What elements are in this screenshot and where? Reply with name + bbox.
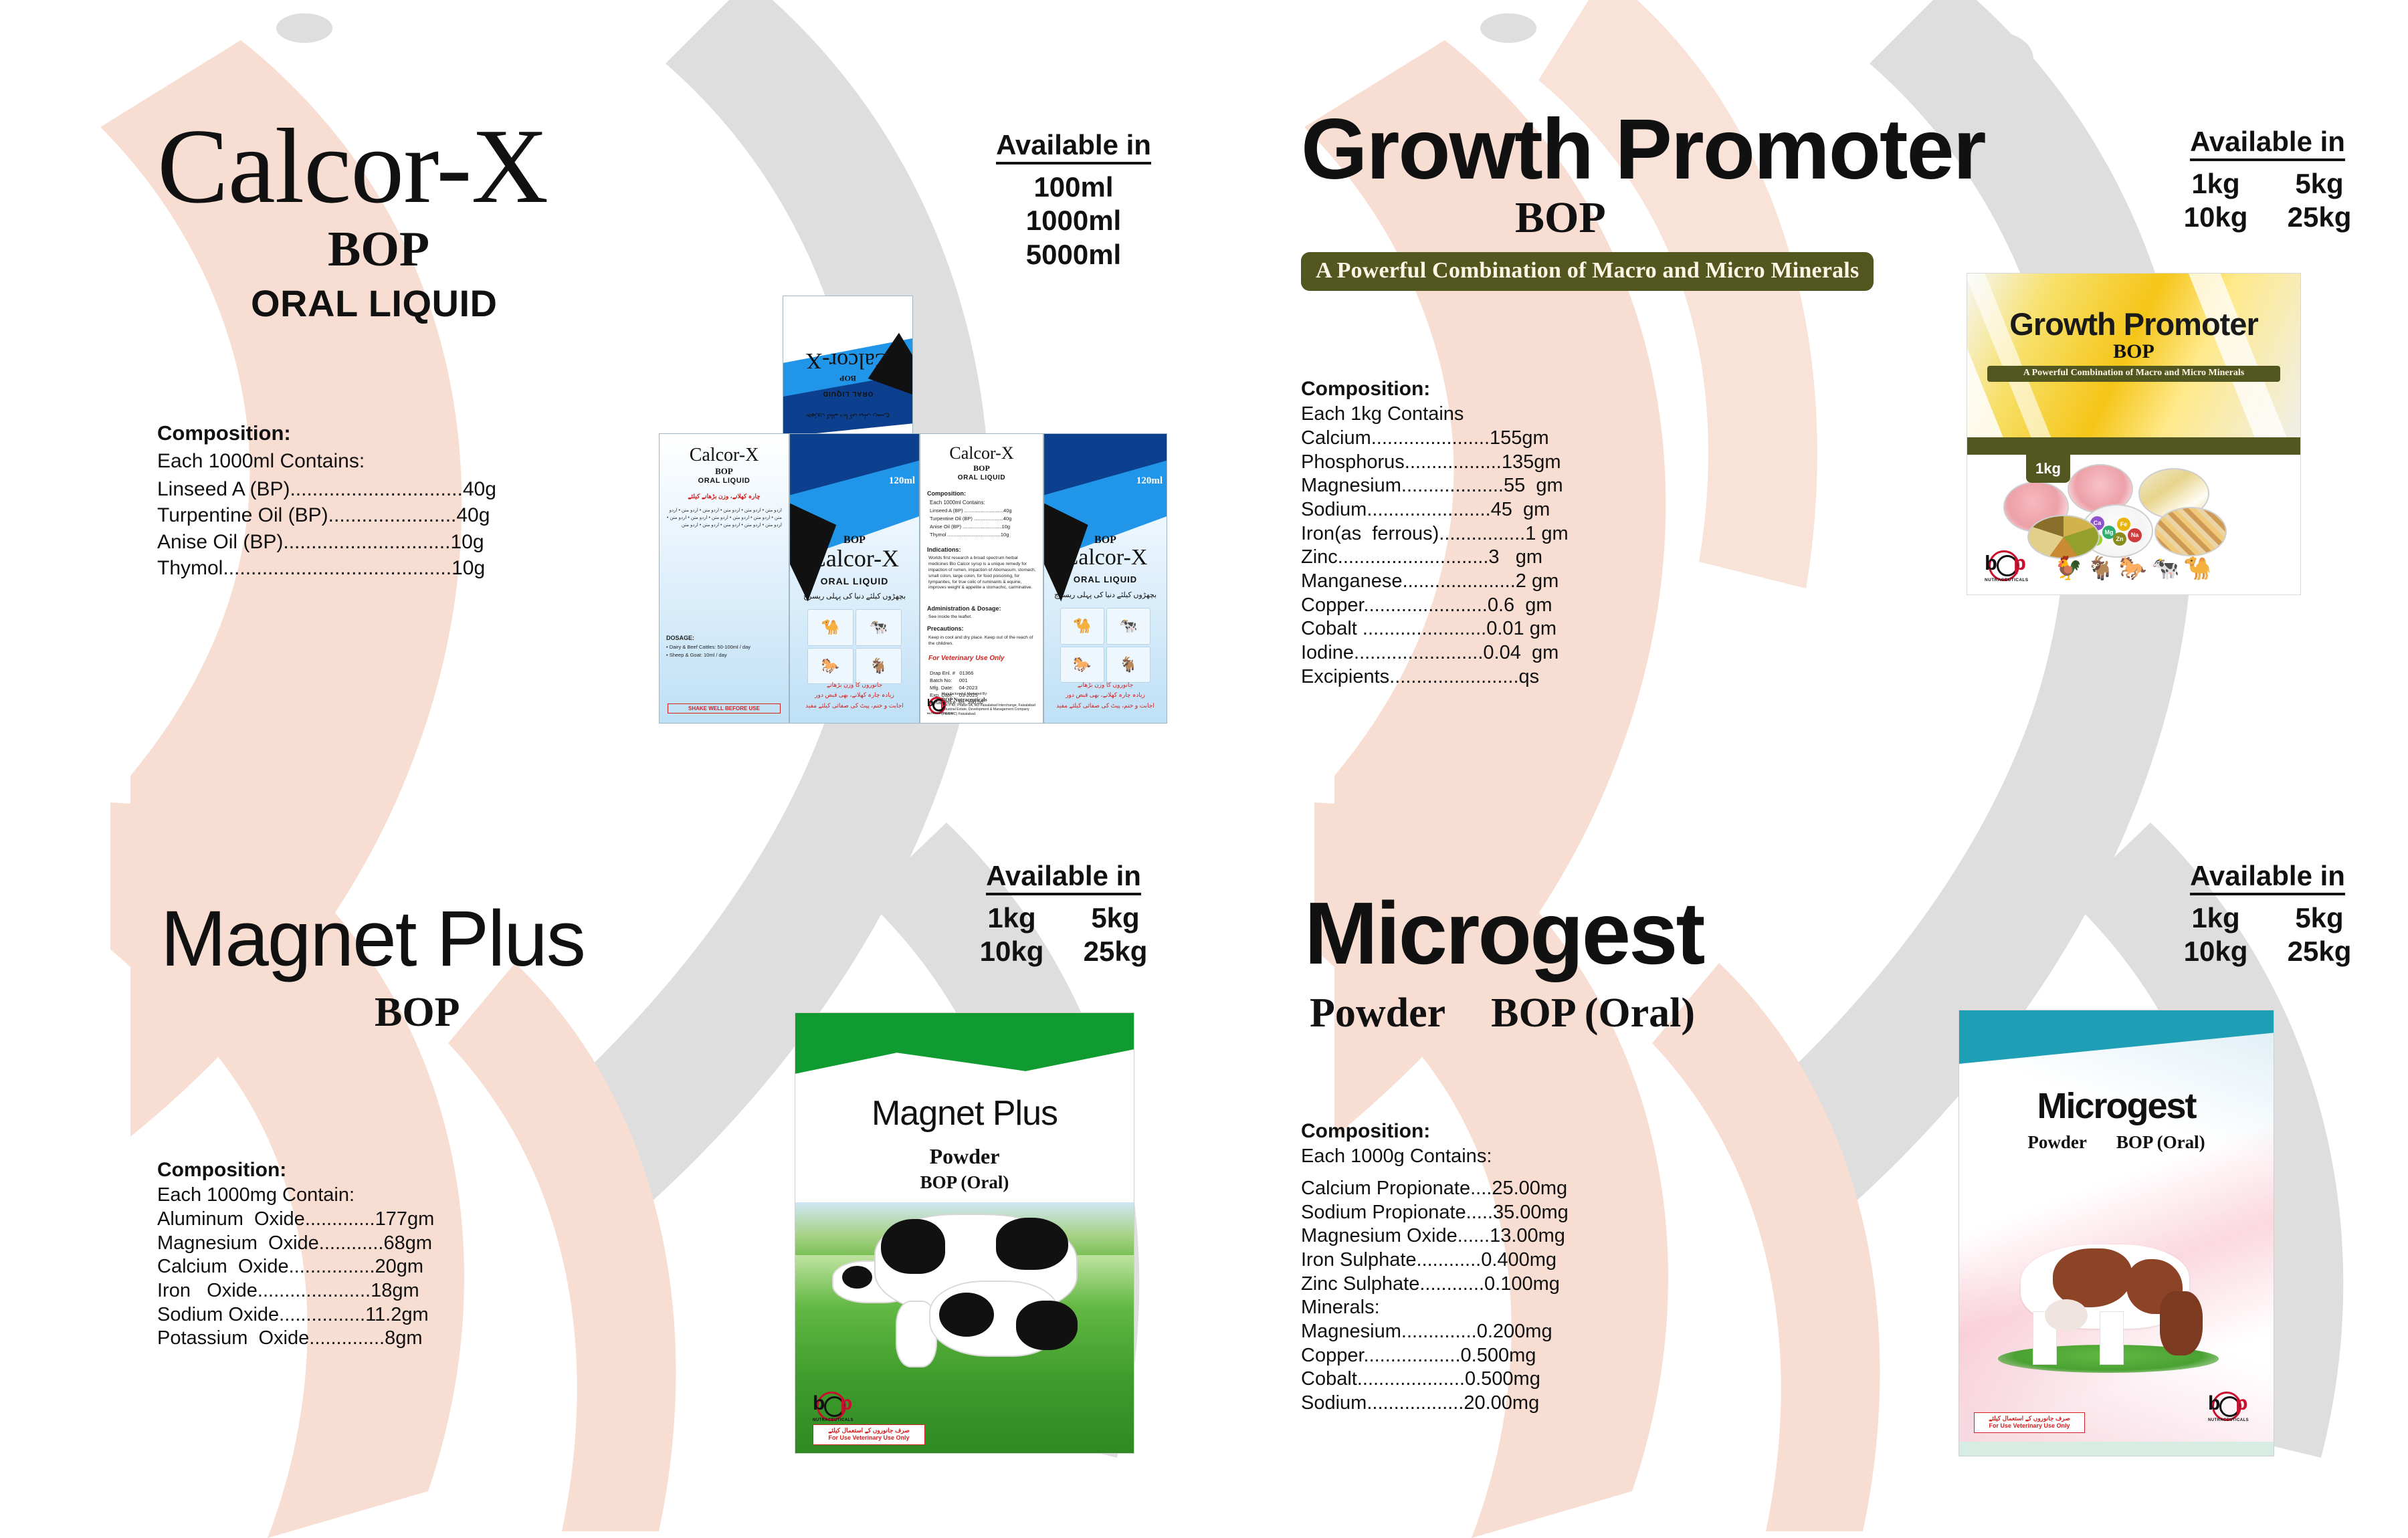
calcor-x-form-label: ORAL LIQUID: [251, 285, 548, 322]
composition-basis: Each 1000ml Contains:: [157, 448, 585, 475]
pack-divider-bar: [1967, 437, 2300, 455]
carton-admin-text: See inside the leaflet.: [928, 615, 972, 619]
growth-promoter-bop-label: BOP: [1515, 196, 1985, 240]
composition-row: Calcium Propionate....25.00mg: [1301, 1177, 1769, 1201]
size-list-magnet-plus: 1kg5kg 10kg25kg: [953, 901, 1174, 969]
size-option[interactable]: 25kg: [2284, 201, 2354, 234]
carton-manufacturer: b p NUTRACEUTICALS Manufactured & Market…: [927, 692, 1043, 716]
microgest-form-label: Powder: [1310, 992, 1445, 1034]
bop-logo-icon: b p NUTRACEUTICALS: [813, 1390, 860, 1421]
udder-icon: [2045, 1299, 2088, 1331]
composition-row: Sodium..................20.00mg: [1301, 1392, 1769, 1416]
composition-list: Calcium......................155gm Phosp…: [1301, 427, 1769, 689]
composition-row: Aluminum Oxide.............177gm: [157, 1208, 625, 1232]
size-option[interactable]: 5000ml: [973, 238, 1174, 271]
pack-weight-tag: 1kg: [2026, 455, 2070, 483]
microgest-bop-label: BOP (Oral): [1491, 992, 1695, 1034]
available-in-magnet-plus: Available in 1kg5kg 10kg25kg: [953, 861, 1174, 969]
product-panel-microgest: Microgest Powder BOP (Oral) Available in…: [1204, 769, 2408, 1538]
cow-icon: [939, 1293, 994, 1337]
pack-footer-band: [1959, 1442, 2274, 1456]
microgest-title-block: Microgest Powder BOP (Oral): [1304, 893, 1703, 1034]
carton-urdu-body: اردو متن • اردو متن • اردو متن • اردو مت…: [666, 508, 782, 530]
carton-admin-heading: Administration & Dosage:: [927, 605, 1001, 612]
composition-heading: Composition:: [157, 1159, 625, 1182]
size-option[interactable]: 1kg: [977, 901, 1047, 935]
composition-microgest: Composition: Each 1000g Contains: Calciu…: [1301, 1120, 1769, 1416]
available-in-growth-promoter: Available in 1kg5kg 10kg25kg: [2157, 127, 2378, 235]
calcor-x-bop-label: BOP: [328, 225, 548, 274]
product-panel-calcor-x: Calcor-X BOP ORAL LIQUID Available in 10…: [0, 0, 1204, 769]
composition-row: Iron(as ferrous)................1 gm: [1301, 522, 1769, 546]
composition-row: Cobalt....................0.500mg: [1301, 1367, 1769, 1392]
camel-icon: 🐪: [2183, 557, 2211, 580]
composition-basis: Each 1kg Contains: [1301, 403, 1769, 425]
carton-shake-notice: SHAKE WELL BEFORE USE: [668, 703, 781, 713]
carton-precautions-text: Keep in cool and dry place. Keep out of …: [928, 635, 1036, 647]
carton-form: ORAL LIQUID: [660, 477, 789, 485]
page-title-calcor-x: Calcor-X: [157, 117, 548, 215]
composition-magnet-plus: Composition: Each 1000mg Contain: Alumin…: [157, 1159, 625, 1351]
composition-row: Excipients........................qs: [1301, 665, 1769, 689]
pack-bop-label: BOP (Oral): [2116, 1133, 2205, 1151]
composition-basis: Each 1000g Contains:: [1301, 1145, 1769, 1168]
carton-dosage-line: • Dairy & Beef Cattles: 50-100ml / day: [666, 644, 750, 650]
carton-form: ORAL LIQUID: [790, 576, 919, 586]
bop-logo-icon: b p NUTRACEUTICALS: [2208, 1390, 2255, 1421]
carton-form-top: ORAL LIQUID: [783, 390, 912, 397]
product-photo-growth-promoter: Growth Promoter BOP A Powerful Combinati…: [1967, 273, 2301, 595]
carton-dosage-line: • Sheep & Goat: 10ml / day: [666, 652, 727, 658]
tagline-banner: A Powerful Combination of Macro and Micr…: [1301, 252, 1874, 291]
composition-row: Sodium.......................45 gm: [1301, 498, 1769, 522]
magnet-plus-bop-label: BOP: [375, 992, 585, 1033]
size-option[interactable]: 5kg: [1080, 901, 1150, 935]
carton-panel-info: Calcor-X BOP ORAL LIQUID Composition: Ea…: [920, 433, 1043, 724]
carton-composition-row: Thymol .................................…: [930, 532, 1009, 538]
carton-indications-heading: Indications:: [927, 546, 961, 553]
pack-title: Magnet Plus: [795, 1093, 1134, 1133]
carton-urdu-footer: جانوروں کا وزن بڑھانےزیادہ چارہ کھلانے، …: [1044, 680, 1167, 711]
size-option[interactable]: 1kg: [2181, 901, 2251, 935]
composition-row: Minerals:: [1301, 1296, 1769, 1320]
page-title-magnet-plus: Magnet Plus: [161, 903, 585, 976]
growth-promoter-title-block: Growth Promoter BOP A Powerful Combinati…: [1301, 110, 1985, 291]
cow-icon: 🐄: [2151, 557, 2179, 580]
cow-icon: [996, 1218, 1068, 1270]
size-option[interactable]: 10kg: [977, 935, 1047, 968]
composition-row: Potassium Oxide..............8gm: [157, 1327, 625, 1351]
available-in-heading: Available in: [986, 861, 1141, 895]
product-photo-calcor-x: بچھڑوں کیلئے دنیا کی پہلی ریسرچ ORAL LIQ…: [659, 296, 1167, 724]
carton-bop: BOP: [660, 466, 789, 477]
size-list-growth-promoter: 1kg5kg 10kg25kg: [2157, 167, 2378, 235]
composition-basis: Each 1000mg Contain:: [157, 1184, 625, 1206]
composition-calcor-x: Composition: Each 1000ml Contains: Linse…: [157, 421, 585, 582]
pack-green-header: [795, 1013, 1134, 1079]
composition-row: Magnesium Oxide............68gm: [157, 1232, 625, 1256]
cow-icon: [881, 1219, 945, 1274]
size-option[interactable]: 1kg: [2181, 167, 2251, 201]
carton-urdu-tagline: بچھڑوں کیلئے دنیا کی پہلی ریسرچ: [1044, 590, 1167, 599]
pack-vet-notice: صرف جانوروں کے استعمال کیلئے For Use Vet…: [813, 1424, 925, 1445]
carton-name: Calcor-X: [790, 546, 919, 570]
available-in-heading: Available in: [2190, 127, 2345, 161]
pack-bop-label: BOP (Oral): [795, 1172, 1134, 1193]
composition-row: Zinc Sulphate............0.100mg: [1301, 1273, 1769, 1297]
composition-heading: Composition:: [1301, 1120, 1769, 1143]
bop-logo-icon: b p NUTRACEUTICALS: [927, 696, 938, 712]
size-option[interactable]: 1000ml: [973, 204, 1174, 237]
product-sheet: Calcor-X BOP ORAL LIQUID Available in 10…: [0, 0, 2408, 1538]
carton-name-top: Calcor-X: [783, 349, 912, 372]
carton-volume: 120ml: [889, 475, 915, 487]
growth-promoter-banner-wrap: A Powerful Combination of Macro and Micr…: [1301, 252, 1985, 291]
carton-animal-grid: 🐪 🐄 🐎 🐐: [1060, 608, 1150, 683]
composition-list: Calcium Propionate....25.00mg Sodium Pro…: [1301, 1177, 1769, 1416]
pack-tagline: A Powerful Combination of Macro and Micr…: [1987, 366, 2280, 382]
carton-composition-basis: Each 1000ml Contains:: [930, 500, 985, 506]
cow-icon: [1016, 1301, 1078, 1350]
carton-composition-row: Linseed A (BP) .........................…: [930, 508, 1012, 514]
carton-panel-urdu: Calcor-X BOP ORAL LIQUID چارہ کھلانے، وز…: [659, 433, 789, 724]
size-option[interactable]: 10kg: [2181, 935, 2251, 968]
pack-title: Microgest: [1959, 1085, 2274, 1127]
composition-row: Manganese.....................2 gm: [1301, 570, 1769, 594]
cow-icon: [2160, 1291, 2203, 1355]
goat-icon: 🐐: [1106, 647, 1150, 683]
composition-list: Linseed A (BP)..........................…: [157, 476, 585, 582]
carton-bop: BOP: [920, 463, 1043, 473]
carton-precautions-heading: Precautions:: [927, 625, 964, 632]
composition-row: Sodium Oxide................11.2gm: [157, 1303, 625, 1327]
carton-mfr-name: BOP Nutraceuticals: [942, 697, 1043, 703]
composition-growth-promoter: Composition: Each 1kg Contains Calcium..…: [1301, 378, 1769, 689]
composition-row: Copper..................0.500mg: [1301, 1344, 1769, 1368]
pack-swirl-art: [1959, 1010, 2274, 1456]
carton-volume: 120ml: [1136, 475, 1163, 487]
carton-urdu-footer: جانوروں کا وزن بڑھانےزیادہ چارہ کھلانے، …: [790, 680, 919, 711]
product-panel-growth-promoter: Growth Promoter BOP A Powerful Combinati…: [1204, 0, 2408, 769]
available-in-calcor-x: Available in 100ml 1000ml 5000ml: [973, 130, 1174, 271]
size-option[interactable]: 100ml: [973, 171, 1174, 204]
composition-row: Iron Oxide.....................18gm: [157, 1279, 625, 1303]
pack-vet-only: For Use Veterinary Use Only: [1975, 1422, 2084, 1430]
composition-row: Magnesium Oxide......13.00mg: [1301, 1224, 1769, 1248]
composition-row: Cobalt .......................0.01 gm: [1301, 617, 1769, 641]
horse-icon: 🐎: [1060, 647, 1104, 683]
carton-composition-heading: Composition:: [927, 490, 966, 497]
goat-icon: 🐐: [2086, 557, 2114, 580]
pack-vet-only: For Use Veterinary Use Only: [813, 1434, 924, 1442]
carton-bop-top: BOP: [783, 373, 912, 383]
carton-panel-front: 120ml BOP Calcor-X ORAL LIQUID بچھڑوں کی…: [789, 433, 920, 724]
pack-urdu-notice: صرف جانوروں کے استعمال کیلئے: [1975, 1415, 2084, 1423]
composition-list: Aluminum Oxide.............177gm Magnesi…: [157, 1208, 625, 1351]
carton-composition-row: Anise Oil (BP) .........................…: [930, 524, 1010, 530]
horse-icon: 🐎: [807, 648, 854, 685]
size-list-calcor-x: 100ml 1000ml 5000ml: [973, 171, 1174, 271]
microgest-subtitle-row: Powder BOP (Oral): [1310, 992, 1703, 1034]
feed-ingredients-icon: [2154, 507, 2227, 556]
composition-row: Magnesium...................55 gm: [1301, 474, 1769, 498]
camel-icon: 🐪: [1060, 608, 1104, 645]
size-list-microgest: 1kg5kg 10kg25kg: [2157, 901, 2378, 969]
product-panel-magnet-plus: Magnet Plus BOP Available in 1kg5kg 10kg…: [0, 769, 1204, 1538]
cow-icon: 🐄: [1106, 608, 1150, 645]
size-option[interactable]: 10kg: [2181, 201, 2251, 234]
composition-row: Copper.......................0.6 gm: [1301, 594, 1769, 618]
cow-icon: 🐄: [856, 609, 902, 646]
composition-row: Linseed A (BP)..........................…: [157, 476, 585, 503]
pack-form-label: Powder: [2027, 1133, 2086, 1151]
available-in-microgest: Available in 1kg5kg 10kg25kg: [2157, 861, 2378, 969]
pack-bop-label: BOP: [1967, 340, 2300, 363]
carton-dosage-heading: DOSAGE:: [666, 635, 694, 641]
composition-row: Anise Oil (BP)..........................…: [157, 529, 585, 556]
horse-icon: 🐎: [2119, 557, 2147, 580]
size-option[interactable]: 5kg: [2284, 901, 2354, 935]
pack-urdu-notice: صرف جانوروں کے استعمال کیلئے: [813, 1427, 924, 1435]
chicken-icon: 🐓: [2054, 557, 2082, 580]
size-option[interactable]: 25kg: [2284, 935, 2354, 968]
composition-heading: Composition:: [157, 421, 585, 445]
size-option[interactable]: 25kg: [1080, 935, 1150, 968]
carton-urdu-red: چارہ کھلانے، وزن بڑھانے کیلئے: [660, 493, 789, 500]
pack-animal-silhouettes: 🐓 🐐 🐎 🐄 🐪: [2054, 557, 2212, 580]
carton-indications-text: Worlds first research a broad spectrum h…: [928, 556, 1036, 591]
size-option[interactable]: 5kg: [2284, 167, 2354, 201]
carton-mfr-addr: Plot # 42, Phase-1A, M3 Faisalabad Inter…: [942, 703, 1043, 717]
composition-row: Calcium Oxide................20gm: [157, 1255, 625, 1279]
cow-icon: [2100, 1311, 2124, 1365]
magnet-plus-title-block: Magnet Plus BOP: [161, 903, 585, 1033]
carton-urdu-tagline: بچھڑوں کیلئے دنیا کی پہلی ریسرچ: [790, 592, 919, 600]
product-photo-microgest: Microgest Powder BOP (Oral) b p NUTRACEU…: [1959, 1010, 2274, 1456]
camel-icon: 🐪: [807, 609, 854, 646]
available-in-heading: Available in: [996, 130, 1151, 164]
carton-urdu-top: بچھڑوں کیلئے دنیا کی پہلی ریسرچ: [783, 413, 912, 420]
feed-grains-icon: [2027, 515, 2100, 559]
composition-heading: Composition:: [1301, 378, 1769, 401]
cow-icon: [842, 1266, 872, 1289]
pack-form-label: Powder: [795, 1144, 1134, 1169]
carton-form: ORAL LIQUID: [920, 474, 1043, 481]
carton-vet-only: For Veterinary Use Only: [928, 655, 1005, 662]
page-title-microgest: Microgest: [1304, 893, 1703, 974]
composition-row: Zinc............................3 gm: [1301, 546, 1769, 570]
bop-logo-icon: b p NUTRACEUTICALS: [1985, 549, 2033, 581]
composition-row: Calcium......................155gm: [1301, 427, 1769, 451]
carton-top-face: بچھڑوں کیلئے دنیا کی پہلی ریسرچ ORAL LIQ…: [783, 296, 913, 437]
composition-row: Turpentine Oil (BP).....................…: [157, 502, 585, 529]
composition-row: Magnesium..............0.200mg: [1301, 1320, 1769, 1344]
carton-form: ORAL LIQUID: [1044, 574, 1167, 584]
carton-name: Calcor-X: [1044, 546, 1167, 569]
carton-name: Calcor-X: [660, 445, 789, 466]
carton-composition-row: Turpentine Oil (BP) ....................…: [930, 516, 1011, 522]
composition-row: Iron Sulphate............0.400mg: [1301, 1248, 1769, 1273]
carton-name: Calcor-X: [920, 443, 1043, 463]
available-in-heading: Available in: [2190, 861, 2345, 895]
composition-row: Phosphorus..................135gm: [1301, 451, 1769, 475]
page-title-growth-promoter: Growth Promoter: [1301, 110, 1985, 189]
carton-animal-grid: 🐪 🐄 🐎 🐐: [807, 609, 902, 684]
pack-title: Growth Promoter: [1967, 306, 2300, 342]
carton-volume-top: 120ml: [794, 316, 820, 327]
pack-vet-notice: صرف جانوروں کے استعمال کیلئے For Use Vet…: [1974, 1412, 2085, 1433]
carton-panel-front-duplicate: 120ml BOP Calcor-X ORAL LIQUID بچھڑوں کی…: [1043, 433, 1167, 724]
calcor-x-title-block: Calcor-X BOP ORAL LIQUID: [157, 117, 548, 322]
product-photo-magnet-plus: Magnet Plus Powder BOP (Oral) b p NUTRAC…: [795, 1012, 1134, 1454]
composition-row: Sodium Propionate.....35.00mg: [1301, 1201, 1769, 1225]
composition-row: Thymol..................................…: [157, 555, 585, 582]
pack-subtitle-row: Powder BOP (Oral): [1959, 1133, 2274, 1151]
goat-icon: 🐐: [856, 648, 902, 685]
composition-row: Iodine........................0.04 gm: [1301, 641, 1769, 665]
